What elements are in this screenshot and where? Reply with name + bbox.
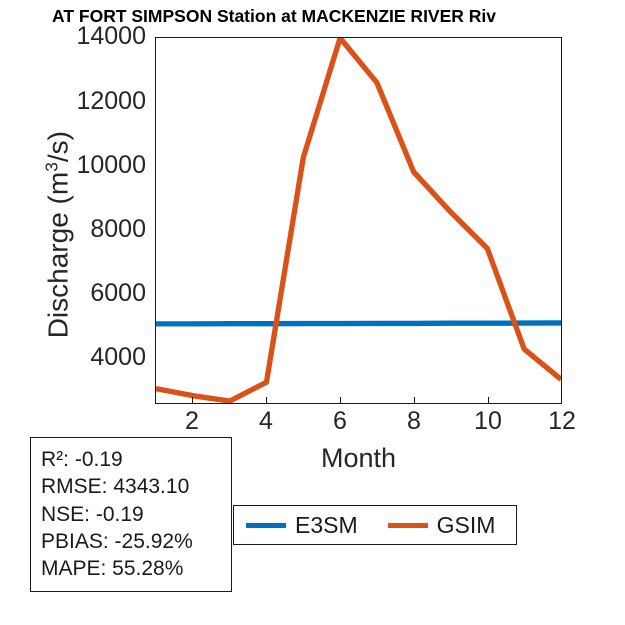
plot-area	[155, 37, 562, 404]
plot-svg	[156, 38, 561, 403]
y-axis-label: Discharge (m3/s)	[41, 25, 74, 445]
chart-legend: E3SM GSIM	[233, 505, 517, 545]
legend-swatch-gsim	[388, 523, 428, 528]
statistics-box: R²: -0.19 RMSE: 4343.10 NSE: -0.19 PBIAS…	[30, 437, 232, 592]
legend-label-e3sm: E3SM	[295, 512, 358, 539]
stat-rmse: RMSE: 4343.10	[41, 473, 231, 500]
x-tick-label-10: 10	[458, 409, 518, 434]
x-tick-label-6: 6	[310, 409, 370, 434]
series-line-e3sm	[156, 323, 561, 324]
y-tick-label-14000: 14000	[76, 24, 146, 49]
stat-nse: NSE: -0.19	[41, 501, 231, 528]
stat-mape: MAPE: 55.28%	[41, 555, 231, 582]
x-tick-mark-8	[414, 397, 415, 404]
x-tick-label-2: 2	[162, 409, 222, 434]
legend-entry-gsim[interactable]: GSIM	[376, 512, 496, 539]
stat-r2: R²: -0.19	[41, 446, 231, 473]
stat-pbias: PBIAS: -25.92%	[41, 528, 231, 555]
y-tick-label-12000: 12000	[76, 89, 146, 114]
x-tick-label-12: 12	[532, 409, 592, 434]
x-tick-mark-6	[340, 397, 341, 404]
x-tick-mark-2	[192, 397, 193, 404]
x-tick-mark-10	[488, 397, 489, 404]
y-tick-label-6000: 6000	[90, 281, 146, 306]
legend-entry-e3sm[interactable]: E3SM	[234, 512, 358, 539]
chart-figure: AT FORT SIMPSON Station at MACKENZIE RIV…	[0, 0, 625, 625]
legend-label-gsim: GSIM	[437, 512, 496, 539]
y-axis-label-exponent: 3	[41, 162, 61, 172]
legend-swatch-e3sm	[246, 523, 286, 528]
y-axis-label-prefix: Discharge (m	[43, 172, 74, 338]
y-tick-label-10000: 10000	[76, 153, 146, 178]
x-tick-label-8: 8	[384, 409, 444, 434]
series-line-gsim	[156, 38, 561, 401]
y-tick-label-4000: 4000	[90, 345, 146, 370]
x-tick-mark-4	[266, 397, 267, 404]
y-axis-label-suffix: /s)	[43, 131, 74, 162]
x-tick-label-4: 4	[236, 409, 296, 434]
y-tick-label-8000: 8000	[90, 217, 146, 242]
